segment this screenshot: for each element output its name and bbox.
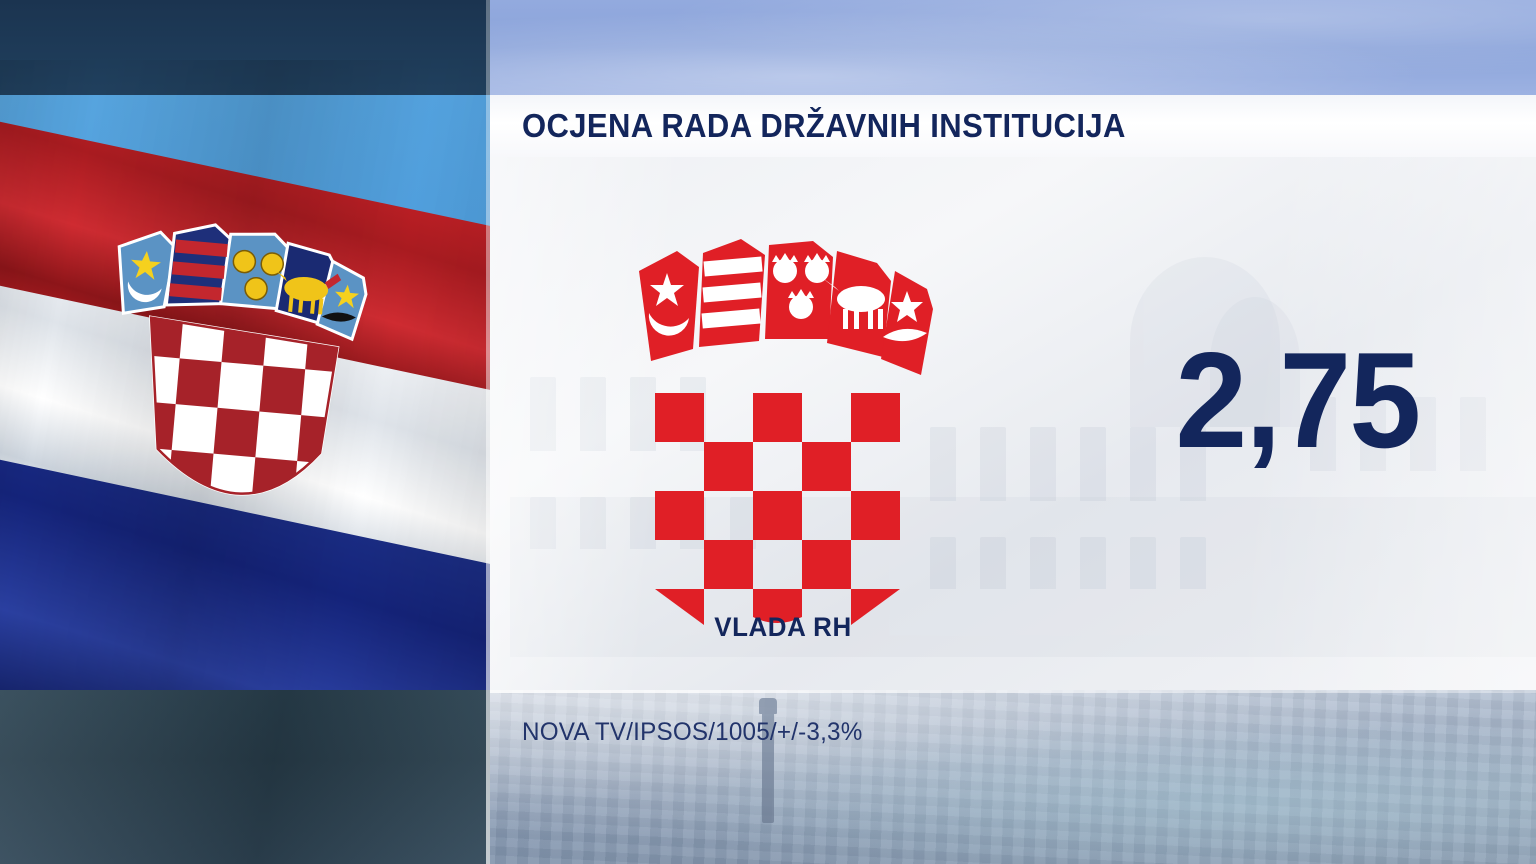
data-panel: OCJENA RADA DRŽAVNIH INSTITUCIJA (490, 0, 1536, 864)
left-footer-band (0, 690, 490, 864)
top-sky-band (490, 0, 1536, 95)
flag-coat-of-arms-icon (85, 194, 379, 566)
footer-top-rule (490, 690, 1536, 693)
broadcast-graphic: OCJENA RADA DRŽAVNIH INSTITUCIJA (0, 0, 1536, 864)
flag-panel (0, 0, 490, 864)
page-title: OCJENA RADA DRŽAVNIH INSTITUCIJA (522, 107, 1126, 145)
source-attribution: NOVA TV/IPSOS/1005/+/-3,3% (522, 718, 862, 747)
source-footer: NOVA TV/IPSOS/1005/+/-3,3% (490, 690, 1536, 864)
institution-label: VLADA RH (502, 612, 1065, 643)
headline-band: OCJENA RADA DRŽAVNIH INSTITUCIJA (490, 95, 1536, 157)
score-value: 2,75 (1176, 332, 1420, 468)
content-area: VLADA RH 2,75 (490, 157, 1536, 690)
coat-of-arms-icon (633, 225, 933, 625)
footer-glow (490, 690, 1536, 864)
